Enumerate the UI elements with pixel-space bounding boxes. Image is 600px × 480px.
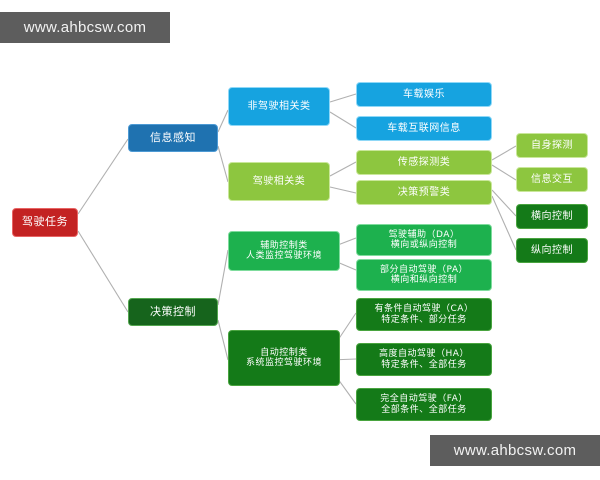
node-longitudinal-control[interactable]: 纵向控制 (516, 238, 588, 263)
node-lateral-control[interactable]: 横向控制 (516, 204, 588, 229)
node-label-line1: 自动控制类 (260, 348, 308, 358)
node-label: 决策控制 (150, 306, 196, 319)
node-label: 信息交互 (531, 174, 573, 186)
node-automatic-control[interactable]: 自动控制类 系统监控驾驶环境 (228, 330, 340, 386)
node-label-line1: 完全自动驾驶（FA） (380, 394, 468, 404)
node-driving-task[interactable]: 驾驶任务 (12, 208, 78, 237)
node-label: 车载娱乐 (403, 89, 445, 101)
node-in-car-internet-info[interactable]: 车载互联网信息 (356, 116, 492, 141)
node-label-line2: 横向和纵向控制 (391, 275, 458, 285)
node-full-automation-fa[interactable]: 完全自动驾驶（FA） 全部条件、全部任务 (356, 388, 492, 421)
node-sensing-detection[interactable]: 传感探测类 (356, 150, 492, 175)
node-label: 非驾驶相关类 (248, 101, 311, 113)
node-partial-automation-pa[interactable]: 部分自动驾驶（PA） 横向和纵向控制 (356, 259, 492, 291)
node-label: 横向控制 (531, 211, 573, 223)
node-label-line2: 系统监控驾驶环境 (246, 358, 322, 368)
node-assisted-control[interactable]: 辅助控制类 人类监控驾驶环境 (228, 231, 340, 271)
node-label-line1: 高度自动驾驶（HA） (379, 349, 469, 359)
node-label: 驾驶任务 (22, 216, 68, 229)
node-label: 车载互联网信息 (387, 123, 461, 135)
watermark-top: www.ahbcsw.com (0, 12, 170, 43)
node-driving-related[interactable]: 驾驶相关类 (228, 162, 330, 201)
node-in-car-entertainment[interactable]: 车载娱乐 (356, 82, 492, 107)
node-label-line2: 特定条件、全部任务 (381, 360, 467, 370)
node-information-perception[interactable]: 信息感知 (128, 124, 218, 152)
watermark-bottom: www.ahbcsw.com (430, 435, 600, 466)
node-decision-warning[interactable]: 决策预警类 (356, 180, 492, 205)
node-label-line2: 特定条件、部分任务 (381, 315, 467, 325)
node-label: 传感探测类 (398, 157, 451, 169)
node-self-detection[interactable]: 自身探测 (516, 133, 588, 158)
node-label: 驾驶相关类 (253, 176, 306, 188)
node-label-line1: 辅助控制类 (260, 241, 308, 251)
node-label: 信息感知 (150, 132, 196, 145)
node-non-driving-related[interactable]: 非驾驶相关类 (228, 87, 330, 126)
diagram-canvas: 驾驶任务 信息感知 决策控制 非驾驶相关类 驾驶相关类 辅助控制类 人类监控驾驶… (0, 0, 600, 480)
node-label-line2: 全部条件、全部任务 (381, 405, 467, 415)
node-information-interaction[interactable]: 信息交互 (516, 167, 588, 192)
node-label-line2: 人类监控驾驶环境 (246, 251, 322, 261)
node-conditional-automation-ca[interactable]: 有条件自动驾驶（CA） 特定条件、部分任务 (356, 298, 492, 331)
node-label-line2: 横向或纵向控制 (391, 240, 458, 250)
node-high-automation-ha[interactable]: 高度自动驾驶（HA） 特定条件、全部任务 (356, 343, 492, 376)
node-label-line1: 有条件自动驾驶（CA） (375, 304, 474, 314)
node-label: 自身探测 (531, 140, 573, 152)
node-label-line1: 部分自动驾驶（PA） (380, 265, 468, 275)
node-driver-assistance-da[interactable]: 驾驶辅助（DA） 横向或纵向控制 (356, 224, 492, 256)
node-label-line1: 驾驶辅助（DA） (389, 230, 460, 240)
node-label: 纵向控制 (531, 245, 573, 257)
node-decision-control[interactable]: 决策控制 (128, 298, 218, 326)
node-label: 决策预警类 (398, 187, 451, 199)
